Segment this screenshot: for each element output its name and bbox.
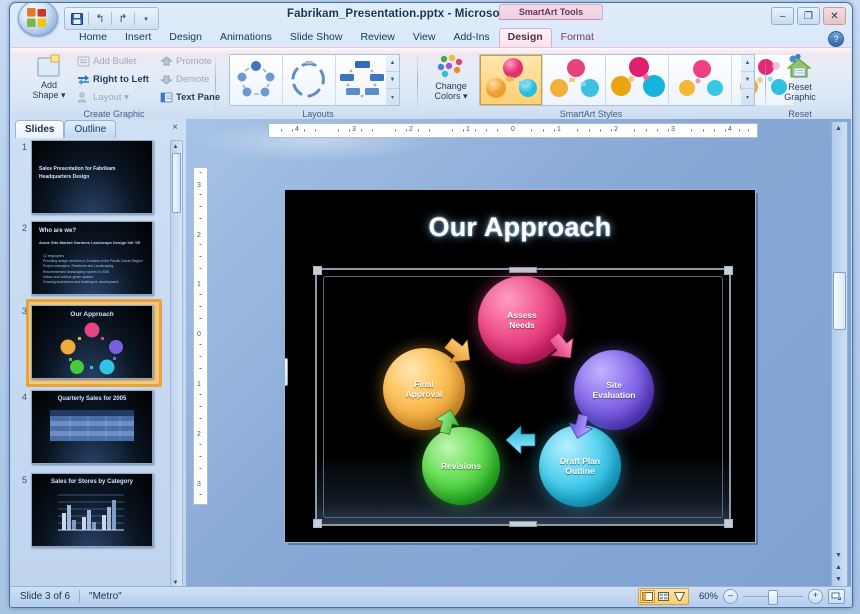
group-label-layouts: Layouts xyxy=(223,109,413,119)
add-shape-label-1: Add xyxy=(41,80,57,90)
layout-item-text-cycle[interactable] xyxy=(336,55,388,105)
resize-handle-ne[interactable] xyxy=(724,266,733,275)
block-cycle-thumb-icon xyxy=(283,55,335,103)
slide-thumbnail-5[interactable]: 5 Sales for Stores by Category xyxy=(13,473,174,545)
ribbon-group-smartart-styles: Change Colors ▾ xyxy=(421,48,761,120)
current-slide-wrapper: Our Approach Assess Needs xyxy=(284,189,754,541)
reset-graphic-label-1: Reset xyxy=(788,82,812,92)
layout-label: Layout ▾ xyxy=(93,92,129,103)
smartart-style-item-1[interactable] xyxy=(543,55,606,105)
slide-thumb-box-2[interactable]: Who are we? Acme Site-Market Gardens Lan… xyxy=(31,221,153,295)
ribbon-separator xyxy=(215,52,216,112)
smartart-style-item-2[interactable] xyxy=(606,55,669,105)
text-pane-label: Text Pane xyxy=(176,92,220,103)
previous-slide-icon[interactable]: ▲ xyxy=(833,562,844,574)
style-thumb-icon-1 xyxy=(543,55,605,103)
ribbon-separator xyxy=(765,52,766,112)
layouts-gallery-scroll[interactable]: ▲ ▼ ▾ xyxy=(386,54,400,106)
demote-label: Demote xyxy=(176,74,209,85)
thumb-smartart-icon xyxy=(54,321,130,375)
styles-scroll-up-icon[interactable]: ▲ xyxy=(741,55,754,72)
tab-animations[interactable]: Animations xyxy=(211,28,281,48)
thumb-title-1: Sales Presentation for Fabrikam Headquar… xyxy=(39,165,143,181)
change-colors-label-1: Change xyxy=(435,81,467,91)
next-slide-icon[interactable]: ▼ xyxy=(833,574,844,586)
window-controls: – ❐ ✕ xyxy=(771,7,846,25)
ribbon-group-layouts: ▲ ▼ ▾ Layouts xyxy=(223,48,413,120)
layouts-gallery[interactable] xyxy=(229,54,388,106)
thumb-table-icon xyxy=(50,410,134,446)
slide-thumb-box-5[interactable]: Sales for Stores by Category xyxy=(31,473,153,547)
status-bar-right: 60% – + xyxy=(638,588,845,605)
thumb-title-2: Who are we? xyxy=(39,228,76,234)
normal-view-button[interactable] xyxy=(640,590,655,603)
basic-cycle-thumb-icon xyxy=(230,55,282,103)
tab-add-ins[interactable]: Add-Ins xyxy=(444,28,498,48)
ribbon-tab-strip: Home Insert Design Animations Slide Show… xyxy=(10,30,852,48)
tab-smartart-design[interactable]: Design xyxy=(499,28,552,48)
zoom-slider-thumb[interactable] xyxy=(768,590,778,605)
text-cycle-thumb-icon xyxy=(336,55,388,103)
layouts-more-icon[interactable]: ▾ xyxy=(386,89,399,105)
contextual-tool-label: SmartArt Tools xyxy=(499,4,603,20)
tab-smartart-format[interactable]: Format xyxy=(552,28,603,48)
group-label-smartart-styles: SmartArt Styles xyxy=(421,109,761,119)
slide-thumb-box-3[interactable]: Our Approach xyxy=(31,305,153,379)
thumb-title-4: Quarterly Sales for 2005 xyxy=(32,396,152,402)
layout-icon xyxy=(77,91,90,104)
thumb-title-3: Our Approach xyxy=(32,311,152,318)
right-to-left-icon xyxy=(77,73,90,86)
smartart-styles-gallery[interactable] xyxy=(479,54,743,106)
status-bar: Slide 3 of 6 "Metro" 60% – xyxy=(11,586,851,606)
powerpoint-application: ↰ ↱ ▾ Fabrikam_Presentation.pptx - Micro… xyxy=(0,0,860,614)
zoom-slider[interactable] xyxy=(743,590,803,603)
slide-show-icon xyxy=(674,592,685,601)
normal-view-icon xyxy=(642,592,653,601)
ribbon-separator xyxy=(417,52,418,112)
promote-icon xyxy=(160,55,173,68)
zoom-out-button[interactable]: – xyxy=(723,589,738,604)
close-pane-icon[interactable]: × xyxy=(172,122,178,133)
slide-thumb-box-1[interactable]: Sales Presentation for Fabrikam Headquar… xyxy=(31,140,153,214)
tab-review[interactable]: Review xyxy=(351,28,403,48)
arrow-revisions-to-final xyxy=(433,407,462,436)
smartart-style-item-3[interactable] xyxy=(669,55,732,105)
resize-handle-se[interactable] xyxy=(724,519,733,528)
slide-thumb-box-4[interactable]: Quarterly Sales for 2005 xyxy=(31,390,153,464)
arrow-final-to-assess xyxy=(440,332,479,371)
scroll-down-icon[interactable]: ▼ xyxy=(833,550,844,562)
tab-view[interactable]: View xyxy=(404,28,445,48)
layout-item-basic-cycle[interactable] xyxy=(230,55,283,105)
tab-design[interactable]: Design xyxy=(160,28,211,48)
thumb-title-5: Sales for Stores by Category xyxy=(32,479,152,485)
ribbon-group-reset: Reset Graphic Reset xyxy=(769,48,831,120)
slide-number-3: 3 xyxy=(15,306,27,316)
add-bullet-icon xyxy=(77,55,90,68)
slide-canvas[interactable]: Our Approach Assess Needs xyxy=(284,189,756,543)
slide-number-4: 4 xyxy=(15,392,27,402)
zoom-in-button[interactable]: + xyxy=(808,589,823,604)
add-shape-icon xyxy=(36,54,62,78)
slide-sorter-icon xyxy=(658,592,669,601)
slide-thumbnail-3[interactable]: 3 Our Approach xyxy=(13,304,174,378)
tab-slide-show[interactable]: Slide Show xyxy=(281,28,352,48)
tab-slides[interactable]: Slides xyxy=(15,120,64,138)
help-icon[interactable]: ? xyxy=(828,31,844,47)
layout-button[interactable]: Layout ▾ xyxy=(77,89,129,105)
zoom-percentage: 60% xyxy=(694,591,718,602)
slide-thumbnail-1[interactable]: 1 Sales Presentation for Fabrikam Headqu… xyxy=(13,140,174,212)
pane-scroll-up-icon[interactable]: ▲ xyxy=(172,142,179,152)
thumb-bullets-2: 12 employees Providing design services i… xyxy=(43,254,143,285)
maximize-button[interactable]: ❐ xyxy=(797,7,820,25)
demote-icon xyxy=(160,73,173,86)
group-label-reset: Reset xyxy=(769,109,831,119)
style-thumb-icon-2 xyxy=(606,55,668,103)
close-button[interactable]: ✕ xyxy=(823,7,846,25)
slide-number-5: 5 xyxy=(15,475,27,485)
layouts-scroll-down-icon[interactable]: ▼ xyxy=(386,72,399,89)
scroll-up-icon[interactable]: ▲ xyxy=(833,123,844,135)
promote-label: Promote xyxy=(176,56,212,67)
slide-editing-area: 4 3 2 1 0 1 2 3 4 xyxy=(186,119,851,591)
view-buttons[interactable] xyxy=(638,588,689,605)
right-to-left-button[interactable]: Right to Left xyxy=(77,71,149,87)
slide-area-scrollbar[interactable]: ▲ ▼ ▲ ▼ xyxy=(831,121,848,589)
fit-to-window-button[interactable] xyxy=(828,589,845,604)
slides-pane-scrollbar[interactable]: ▲ ▼ xyxy=(170,140,183,590)
minimize-button[interactable]: – xyxy=(771,7,794,25)
ruler-marks xyxy=(194,168,207,504)
thumb-bullet: Growing businesses and buildings in deve… xyxy=(43,280,143,285)
group-label-create-graphic: Create Graphic xyxy=(17,109,211,119)
smartart-placeholder-frame[interactable]: Assess Needs Site Evaluation Draft Plan … xyxy=(315,268,731,526)
resize-handle-sw[interactable] xyxy=(313,519,322,528)
slide-number-2: 2 xyxy=(15,223,27,233)
application-window: ↰ ↱ ▾ Fabrikam_Presentation.pptx - Micro… xyxy=(9,2,853,608)
tab-home[interactable]: Home xyxy=(70,28,116,48)
arrow-draft-to-revisions xyxy=(506,426,535,454)
ribbon-tabs: Home Insert Design Animations Slide Show… xyxy=(70,30,603,48)
style-thumb-icon-3 xyxy=(669,55,731,103)
slide-thumbnail-4[interactable]: 4 Quarterly Sales for 2005 xyxy=(13,390,174,462)
reset-graphic-icon xyxy=(785,54,815,80)
slide-counter: Slide 3 of 6 xyxy=(11,587,79,606)
ribbon-group-create-graphic: Add Shape ▾ Add Bullet Right to Left Lay… xyxy=(17,48,211,120)
demote-button[interactable]: Demote xyxy=(160,71,209,87)
layouts-scroll-up-icon[interactable]: ▲ xyxy=(386,55,399,72)
slide-thumbnail-2[interactable]: 2 Who are we? Acme Site-Market Gardens L… xyxy=(13,221,174,293)
arrow-site-to-draft xyxy=(566,412,595,441)
slide-show-view-button[interactable] xyxy=(672,590,687,603)
vertical-ruler[interactable]: 3 2 1 0 1 2 3 xyxy=(193,167,208,505)
promote-button[interactable]: Promote xyxy=(160,53,212,69)
add-bullet-label: Add Bullet xyxy=(93,56,136,67)
smartart-style-item-0[interactable] xyxy=(480,55,543,105)
ribbon: Add Shape ▾ Add Bullet Right to Left Lay… xyxy=(11,47,851,121)
slides-pane-tabs: Slides Outline xyxy=(15,121,116,138)
thumb-subtitle-2: Acme Site-Market Gardens Landscape Desig… xyxy=(39,240,143,245)
layout-item-block-cycle[interactable] xyxy=(283,55,336,105)
smartart-arrows xyxy=(317,270,717,512)
right-to-left-label: Right to Left xyxy=(93,74,149,85)
add-bullet-button[interactable]: Add Bullet xyxy=(77,53,136,69)
text-pane-icon xyxy=(160,91,173,104)
slide-sorter-view-button[interactable] xyxy=(656,590,671,603)
smartart-styles-scroll[interactable]: ▲ ▼ ▾ xyxy=(741,54,755,106)
text-pane-toggle-handle[interactable] xyxy=(284,358,288,386)
pane-scroll-thumb[interactable] xyxy=(172,153,181,213)
slide-thumbnail-list: 1 Sales Presentation for Fabrikam Headqu… xyxy=(13,140,174,588)
theme-name: "Metro" xyxy=(80,587,131,606)
slide-number-1: 1 xyxy=(15,142,27,152)
slides-pane: Slides Outline × 1 Sales Presentation fo… xyxy=(11,119,186,591)
arrow-assess-to-site xyxy=(543,328,582,367)
styles-more-icon[interactable]: ▾ xyxy=(741,89,754,105)
slide-title-text[interactable]: Our Approach xyxy=(285,212,755,243)
fit-slide-icon xyxy=(830,591,841,600)
scroll-thumb[interactable] xyxy=(833,272,846,330)
style-thumb-icon-0 xyxy=(480,55,542,103)
reset-graphic-label-2: Graphic xyxy=(784,92,816,102)
tab-outline[interactable]: Outline xyxy=(64,120,116,138)
resize-handle-s[interactable] xyxy=(509,521,537,527)
change-colors-button[interactable]: Change Colors ▾ xyxy=(427,52,475,108)
horizontal-ruler[interactable]: 4 3 2 1 0 1 2 3 4 xyxy=(268,123,758,138)
text-pane-button[interactable]: Text Pane xyxy=(160,89,220,105)
tab-insert[interactable]: Insert xyxy=(116,28,160,48)
reset-graphic-button[interactable]: Reset Graphic xyxy=(777,51,823,107)
thumb-chart-icon xyxy=(46,491,138,539)
change-colors-label-2: Colors ▾ xyxy=(434,91,467,101)
notes-pane[interactable] xyxy=(186,563,828,587)
contextual-tool-band xyxy=(499,19,601,20)
styles-scroll-down-icon[interactable]: ▼ xyxy=(741,72,754,89)
add-shape-button[interactable]: Add Shape ▾ xyxy=(25,51,73,107)
ruler-marks xyxy=(269,124,757,137)
window-title: Fabrikam_Presentation.pptx - Microsoft P… xyxy=(10,8,852,20)
add-shape-label-2: Shape ▾ xyxy=(32,90,65,100)
change-colors-icon xyxy=(436,55,466,79)
